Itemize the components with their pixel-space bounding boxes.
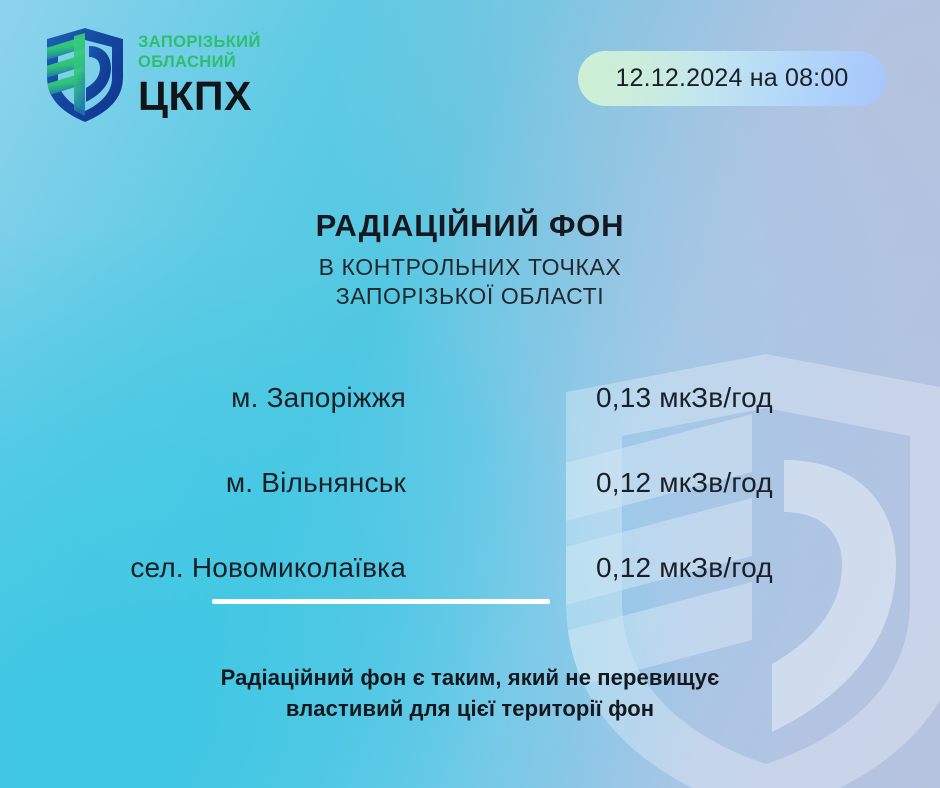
date-badge: 12.12.2024 на 08:00 xyxy=(578,51,886,106)
logo-line-oblasnyi: ОБЛАСНИЙ xyxy=(138,54,261,71)
reading-row: м. Запоріжжя 0,13 мкЗв/год xyxy=(0,382,940,467)
heading-block: РАДІАЦІЙНИЙ ФОН В КОНТРОЛЬНИХ ТОЧКАХ ЗАП… xyxy=(0,208,940,312)
reading-value: 0,12 мкЗв/год xyxy=(596,552,773,584)
logo-wordmark: ЗАПОРІЗЬКИЙ ОБЛАСНИЙ ЦКПХ xyxy=(138,34,261,117)
reading-value: 0,13 мкЗв/год xyxy=(596,382,773,414)
shield-logo-icon xyxy=(44,26,126,124)
page-subtitle-line-2: ЗАПОРІЗЬКОЇ ОБЛАСТІ xyxy=(0,282,940,311)
date-badge-text: 12.12.2024 на 08:00 xyxy=(615,64,848,93)
reading-value: 0,12 мкЗв/год xyxy=(596,467,773,499)
section-divider xyxy=(212,599,550,604)
logo-line-zaporizkyi: ЗАПОРІЗЬКИЙ xyxy=(138,34,261,51)
reading-place: сел. Новомиколаївка xyxy=(130,552,406,584)
reading-row: сел. Новомиколаївка 0,12 мкЗв/год xyxy=(0,552,940,637)
reading-row: м. Вільнянськ 0,12 мкЗв/год xyxy=(0,467,940,552)
footnote-line-2: властивий для цієї території фон xyxy=(0,693,940,724)
footnote: Радіаційний фон є таким, який не перевищ… xyxy=(0,662,940,724)
reading-place: м. Запоріжжя xyxy=(231,382,406,414)
organisation-logo: ЗАПОРІЗЬКИЙ ОБЛАСНИЙ ЦКПХ xyxy=(44,26,261,124)
radiation-background-poster: ЗАПОРІЗЬКИЙ ОБЛАСНИЙ ЦКПХ 12.12.2024 на … xyxy=(0,0,940,788)
page-title: РАДІАЦІЙНИЙ ФОН xyxy=(0,208,940,244)
footnote-line-1: Радіаційний фон є таким, який не перевищ… xyxy=(0,662,940,693)
page-subtitle-line-1: В КОНТРОЛЬНИХ ТОЧКАХ xyxy=(0,253,940,282)
logo-acronym: ЦКПХ xyxy=(138,76,261,117)
reading-place: м. Вільнянськ xyxy=(226,467,406,499)
